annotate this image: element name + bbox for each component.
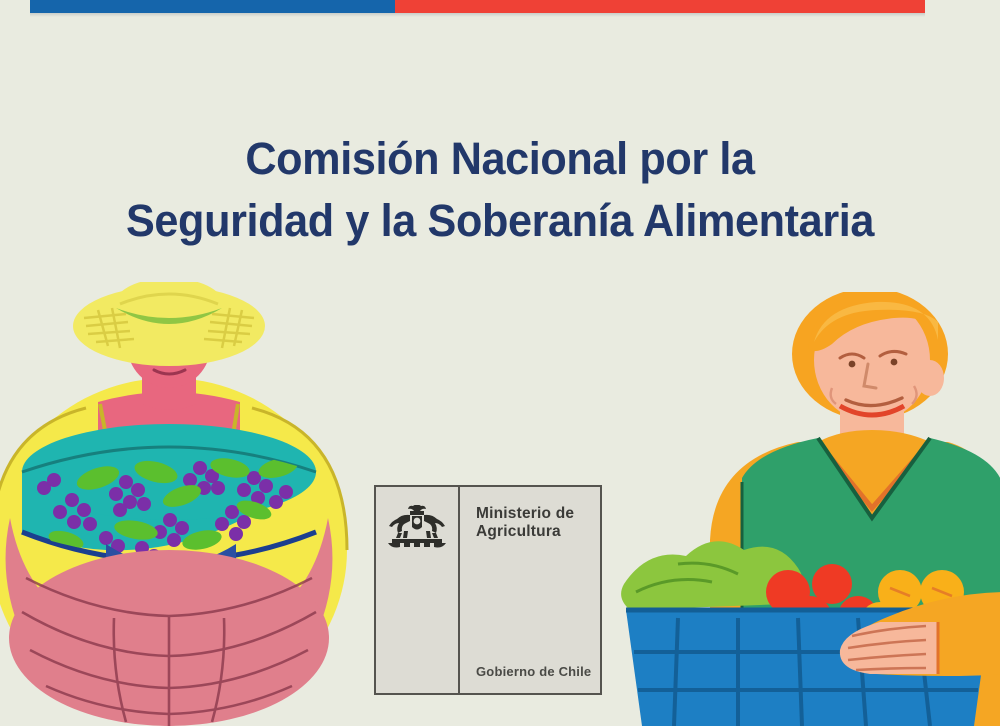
presentation-slide: Comisión Nacional por la Seguridad y la … xyxy=(0,0,1000,726)
ministry-name: Ministerio de Agricultura xyxy=(476,505,574,541)
ministry-name-line-2: Agricultura xyxy=(476,523,574,541)
flag-red-segment xyxy=(395,0,925,13)
illustration-woman-farmer xyxy=(0,282,352,726)
logo-emblem-panel xyxy=(376,487,460,693)
slide-title: Comisión Nacional por la Seguridad y la … xyxy=(0,128,1000,252)
slide-title-line-2: Seguridad y la Soberanía Alimentaria xyxy=(20,190,980,252)
flag-blue-segment xyxy=(30,0,395,13)
government-name: Gobierno de Chile xyxy=(476,664,591,679)
ministry-logo-box: Ministerio de Agricultura Gobierno de Ch… xyxy=(374,485,602,695)
illustration-man-farmer xyxy=(618,292,1000,726)
chile-flag-bar xyxy=(30,0,925,13)
slide-title-line-1: Comisión Nacional por la xyxy=(20,128,980,190)
logo-text-panel: Ministerio de Agricultura Gobierno de Ch… xyxy=(460,487,600,693)
chile-coat-of-arms-icon xyxy=(386,505,448,558)
flag-bar-shadow xyxy=(30,13,925,17)
ministry-name-line-1: Ministerio de xyxy=(476,505,574,523)
